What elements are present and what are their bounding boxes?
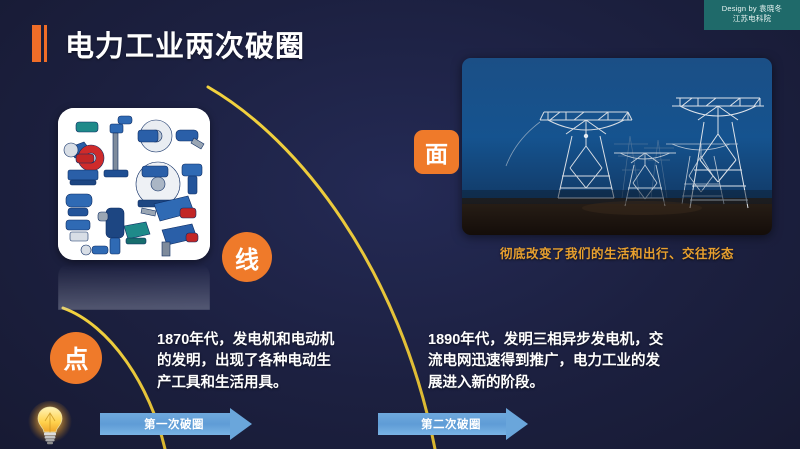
accent-bar-thick <box>32 25 41 62</box>
credit-line-1: Design by 袁晓冬 <box>704 4 800 14</box>
paragraph-second-breakout: 1890年代，发明三相异步发电机，交流电网迅速得到推广，电力工业的发展进入新的阶… <box>428 330 664 394</box>
marker-point-label: 点 <box>63 340 88 376</box>
slide-canvas: Design by 袁晓冬 江苏电科院 电力工业两次破圈 <box>0 0 800 449</box>
banner-second-breakout[interactable]: 第二次破圈 <box>378 413 528 435</box>
marker-point: 点 <box>50 332 102 384</box>
banner-first-breakout[interactable]: 第一次破圈 <box>100 413 252 435</box>
title-accent-bars <box>32 25 47 62</box>
power-tools-collage-art <box>58 108 210 260</box>
design-credit-badge: Design by 袁晓冬 江苏电科院 <box>704 0 800 30</box>
credit-line-2: 江苏电科院 <box>704 14 800 24</box>
power-tools-reflection <box>58 262 210 310</box>
power-tools-image <box>58 108 210 260</box>
banner-second-arrowhead <box>506 408 528 440</box>
page-title: 电力工业两次破圈 <box>65 23 305 65</box>
lightbulb-glyph <box>26 400 74 448</box>
lightbulb-icon <box>26 400 74 448</box>
marker-line: 线 <box>222 232 272 282</box>
towers-caption: 彻底改变了我们的生活和出行、交往形态 <box>462 243 772 262</box>
accent-bar-thin <box>44 25 47 62</box>
transmission-towers-art <box>462 58 772 235</box>
banner-first-label: 第一次破圈 <box>100 413 230 435</box>
transmission-towers-image <box>462 58 772 235</box>
power-tools-reflection-art <box>58 262 210 310</box>
banner-second-label: 第二次破圈 <box>378 413 506 435</box>
paragraph-first-breakout: 1870年代，发电机和电动机的发明，出现了各种电动生产工具和生活用具。 <box>157 330 343 394</box>
marker-plane-label: 面 <box>425 135 448 169</box>
marker-line-label: 线 <box>235 240 259 275</box>
marker-plane: 面 <box>414 130 459 174</box>
banner-first-arrowhead <box>230 408 252 440</box>
